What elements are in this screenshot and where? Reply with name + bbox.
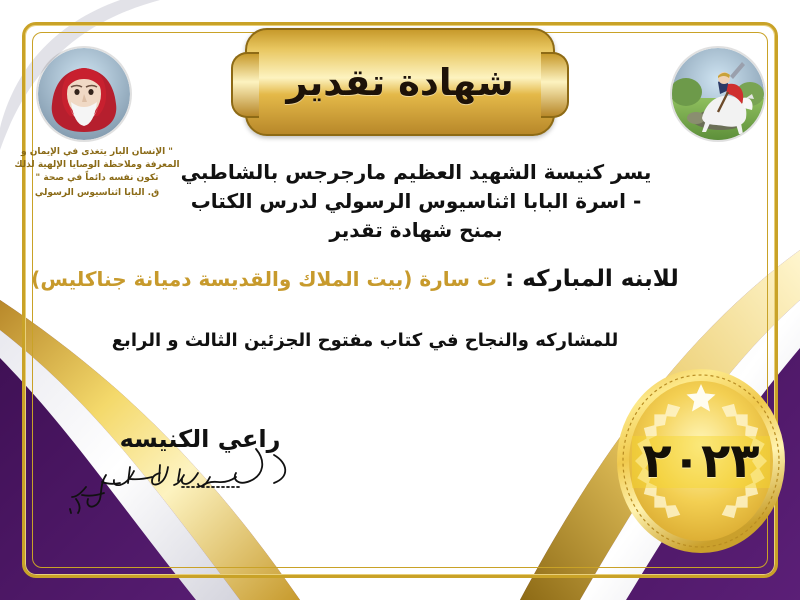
body-line-3: بمنح شهادة تقدير	[150, 216, 682, 245]
body-line-1: يسر كنيسة الشهيد العظيم مارجرجس بالشاطبي	[150, 158, 682, 187]
saint-athanasius-portrait-icon	[38, 48, 130, 140]
certificate-body: يسر كنيسة الشهيد العظيم مارجرجس بالشاطبي…	[150, 158, 682, 245]
certificate-title: شهادة تقدير	[245, 28, 555, 136]
signature-block: راعي الكنيسه	[60, 425, 340, 517]
saint-george-dragon-icon	[672, 48, 764, 140]
title-banner: شهادة تقدير	[245, 28, 555, 136]
medal-year: ٢٠٢٣	[612, 366, 790, 556]
award-reason: للمشاركه والنجاح في كتاب مفتوح الجزئين ا…	[40, 330, 690, 351]
handwritten-signature-icon	[60, 447, 340, 517]
certificate-canvas: شهادة تقدير	[0, 0, 800, 600]
body-line-2: - اسرة البابا اثناسيوس الرسولي لدرس الكت…	[150, 187, 682, 216]
year-medal: ٢٠٢٣	[612, 366, 790, 556]
recipient-label: للابنه المباركه :	[505, 266, 679, 292]
recipient-name: ت سارة (بيت الملاك والقديسة دميانة جناكل…	[31, 267, 497, 291]
recipient-line: للابنه المباركه : ت سارة (بيت الملاك وال…	[10, 266, 700, 292]
